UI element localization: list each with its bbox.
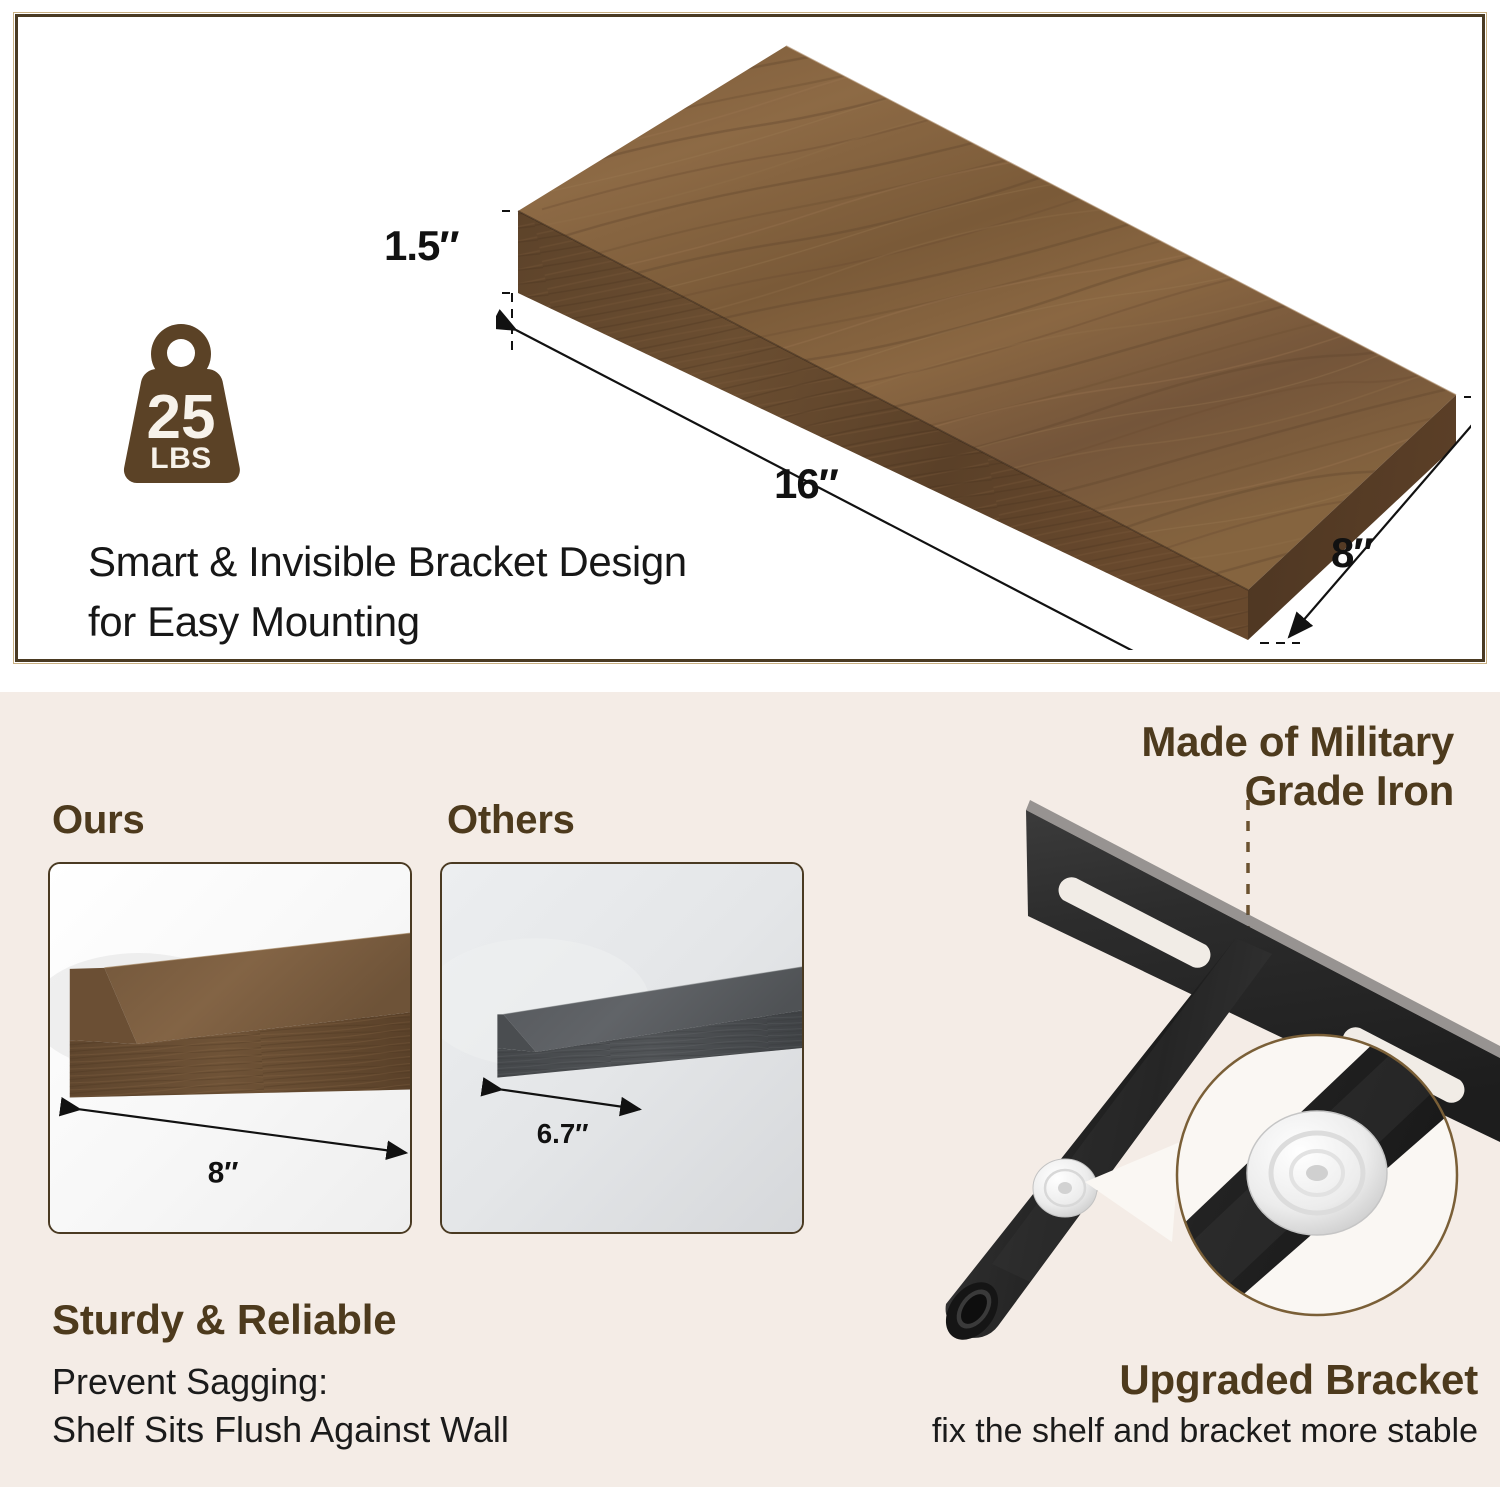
dimension-label-depth: 8″: [1331, 529, 1372, 577]
weight-capacity-badge: 25 LBS: [111, 320, 251, 490]
sturdy-line-2: Shelf Sits Flush Against Wall: [52, 1406, 509, 1454]
thickness-dimension: [496, 211, 510, 293]
upgraded-bracket-heading: Upgraded Bracket: [1119, 1356, 1478, 1404]
ours-depth-label: 8″: [208, 1157, 239, 1190]
comparison-title-ours: Ours: [52, 798, 145, 843]
sturdy-body: Prevent Sagging: Shelf Sits Flush Agains…: [52, 1358, 509, 1454]
dimension-label-thickness: 1.5″: [384, 222, 459, 270]
sturdy-heading: Sturdy & Reliable: [52, 1296, 396, 1344]
others-depth-label: 6.7″: [537, 1118, 589, 1149]
comparison-card-others: 6.7″: [440, 862, 804, 1234]
dimension-label-length: 16″: [774, 460, 838, 508]
shelf-3d-illustration: [496, 25, 1471, 650]
top-panel: 25 LBS Smart & Invisible Bracket Design …: [15, 14, 1485, 662]
sturdy-line-1: Prevent Sagging:: [52, 1358, 509, 1406]
weight-unit: LBS: [150, 442, 212, 475]
comparison-title-others: Others: [447, 798, 575, 843]
comparison-card-ours: 8″: [48, 862, 412, 1234]
military-line-1: Made of Military: [1141, 718, 1454, 767]
bracket-illustration: [880, 790, 1500, 1350]
upgraded-bracket-subtitle: fix the shelf and bracket more stable: [932, 1412, 1478, 1451]
weight-icon: 25 LBS: [111, 320, 251, 490]
screw-cap-on-rod: [1033, 1159, 1097, 1217]
